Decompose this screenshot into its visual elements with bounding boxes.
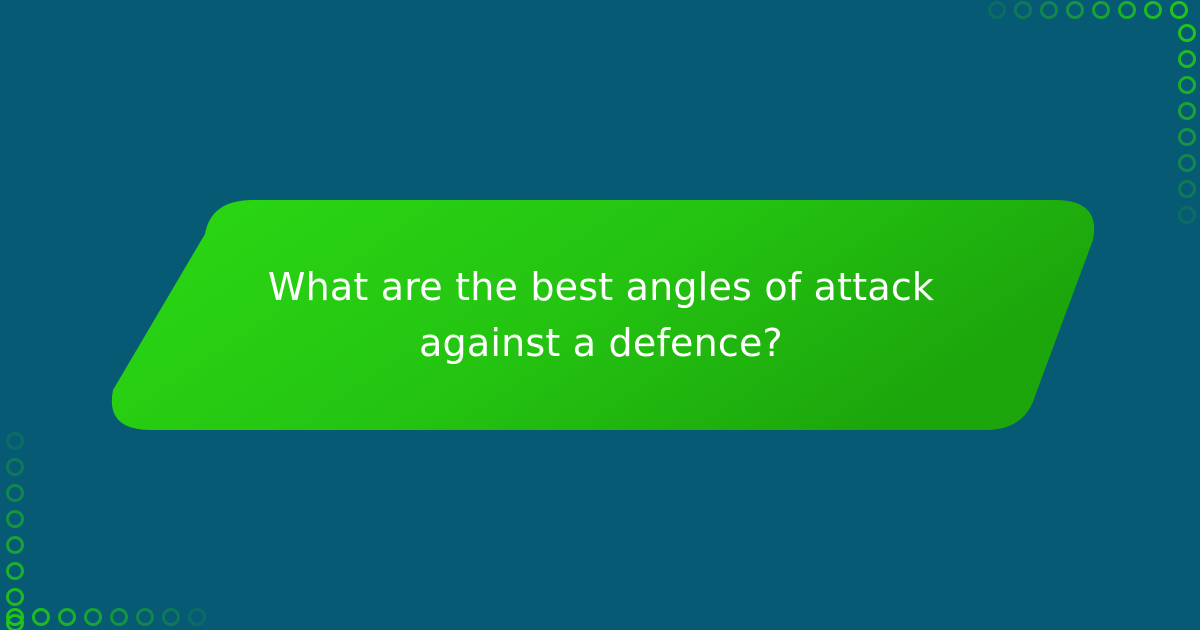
decorative-circle-icon [1066,1,1084,19]
decorative-circle-icon [1178,154,1196,172]
headline-text: What are the best angles of attack again… [105,200,1097,430]
decorative-circle-icon [1178,102,1196,120]
decorative-circle-icon [6,562,24,580]
decorative-circle-icon [1178,128,1196,146]
decorative-circle-icon [84,608,102,626]
decorative-circle-icon [1178,76,1196,94]
headline-banner: What are the best angles of attack again… [105,200,1097,430]
decorative-circle-icon [32,608,50,626]
decorative-circle-icon [6,432,24,450]
decorative-circle-icon [6,510,24,528]
decorative-circle-icon [1178,206,1196,224]
decorative-circle-icon [1178,180,1196,198]
decorative-dots-left [6,432,24,630]
decorative-circle-icon [1118,1,1136,19]
decorative-circle-icon [136,608,154,626]
decorative-circle-icon [1170,1,1188,19]
decorative-circle-icon [1014,1,1032,19]
decorative-circle-icon [6,536,24,554]
decorative-circle-icon [1178,50,1196,68]
decorative-dots-top-right [988,1,1196,19]
decorative-circle-icon [988,1,1006,19]
decorative-circle-icon [162,608,180,626]
decorative-dots-bottom [6,608,214,626]
decorative-circle-icon [6,458,24,476]
decorative-circle-icon [6,484,24,502]
decorative-circle-icon [58,608,76,626]
decorative-circle-icon [1178,24,1196,42]
decorative-circle-icon [110,608,128,626]
decorative-circle-icon [6,588,24,606]
decorative-circle-icon [1040,1,1058,19]
decorative-circle-icon [6,608,24,626]
decorative-circle-icon [1092,1,1110,19]
decorative-circle-icon [1144,1,1162,19]
quote-card-canvas: What are the best angles of attack again… [0,0,1200,630]
decorative-dots-right [1178,24,1196,232]
decorative-circle-icon [188,608,206,626]
